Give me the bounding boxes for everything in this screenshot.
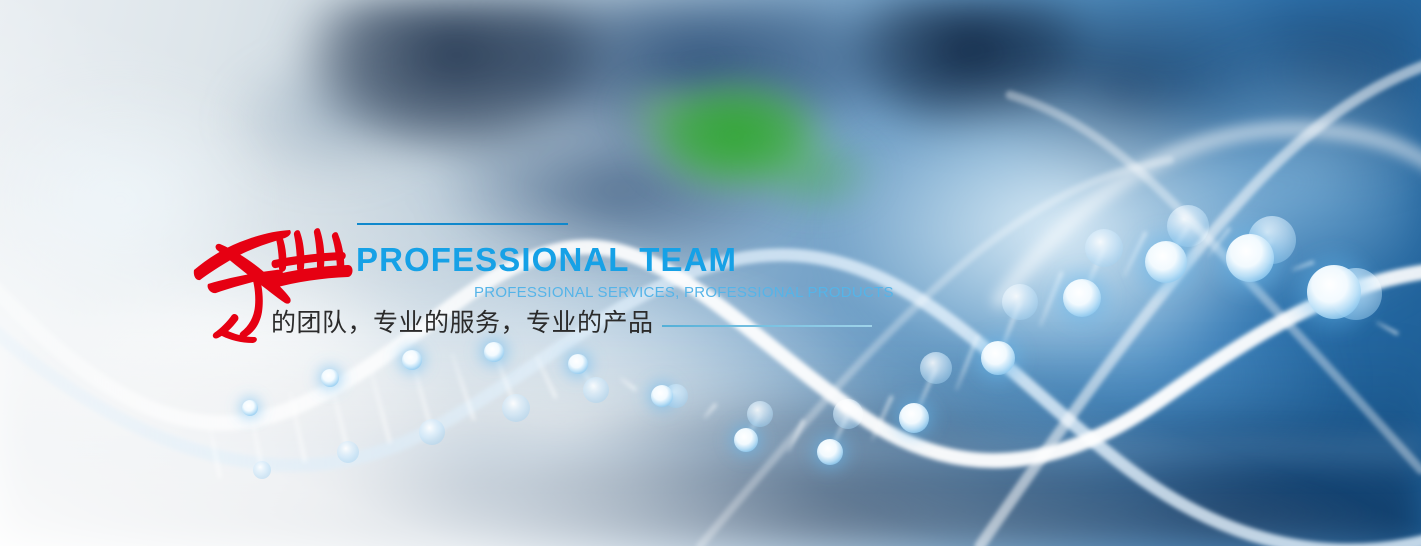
decorative-rule-bottom xyxy=(662,325,872,327)
chinese-tagline-text: 的团队，专业的服务，专业的产品 xyxy=(271,308,654,339)
decorative-rule-top xyxy=(357,223,568,225)
subheadline-text: PROFESSIONAL SERVICES, PROFESSIONAL PROD… xyxy=(474,285,894,300)
banner-content: PROFESSIONAL TEAM PROFESSIONAL SERVICES,… xyxy=(0,0,1421,546)
promo-banner: PROFESSIONAL TEAM PROFESSIONAL SERVICES,… xyxy=(0,0,1421,546)
headline-text: PROFESSIONAL TEAM xyxy=(356,243,737,276)
